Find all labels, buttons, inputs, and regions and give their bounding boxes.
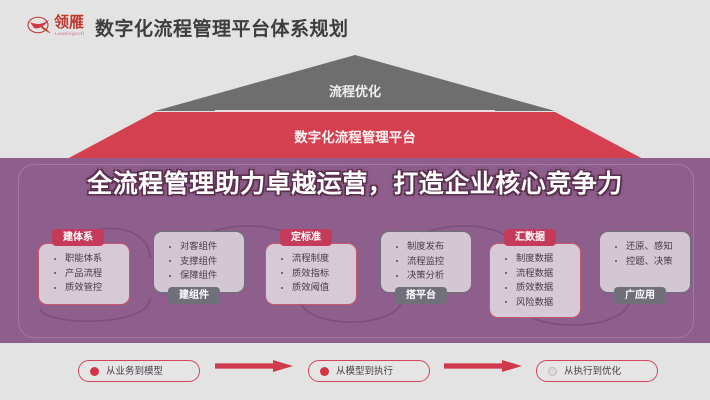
- group-3-items: 流程制度 质效指标 质效阈值: [270, 251, 352, 295]
- list-item: 风险数据: [494, 295, 576, 310]
- group-pill-4[interactable]: 搭平台: [395, 287, 447, 304]
- list-item: 产品流程: [43, 266, 125, 281]
- flow-chip-1[interactable]: 从业务到模型: [78, 360, 200, 382]
- group-6-items: 还原、感知 控题、决策: [604, 239, 686, 268]
- group-pill-6[interactable]: 广应用: [614, 287, 666, 304]
- list-item: 流程制度: [270, 251, 352, 266]
- group-1-items: 职能体系 产品流程 质效管控: [43, 251, 125, 295]
- goose-swoosh-icon: [27, 15, 53, 35]
- list-item: 制度数据: [494, 251, 576, 266]
- flow-chip-3-label: 从执行到优化: [564, 361, 621, 383]
- pyramid-divider: [215, 110, 495, 112]
- group-pill-2[interactable]: 建组件: [168, 287, 220, 304]
- list-item: 质效指标: [270, 266, 352, 281]
- flow-strip: 从业务到模型 从模型到执行 从执行到优化: [0, 352, 710, 386]
- slide-header: 领雁 Leadingsoft 数字化流程管理平台体系规划: [0, 0, 710, 56]
- pyramid-middle-label: 数字化流程管理平台: [65, 126, 645, 146]
- group-card-5[interactable]: 制度数据 流程数据 质效数据 风险数据: [489, 243, 581, 318]
- flow-dot-icon: [548, 367, 557, 376]
- list-item: 职能体系: [43, 251, 125, 266]
- list-item: 质效管控: [43, 280, 125, 295]
- flow-chip-2-label: 从模型到执行: [336, 361, 393, 383]
- list-item: 流程监控: [385, 254, 467, 269]
- list-item: 还原、感知: [604, 239, 686, 254]
- group-card-3[interactable]: 流程制度 质效指标 质效阈值: [265, 243, 357, 305]
- flow-chip-3[interactable]: 从执行到优化: [536, 360, 658, 382]
- logo-chinese-text: 领雁: [54, 14, 84, 31]
- list-item: 决策分析: [385, 268, 467, 283]
- group-card-6[interactable]: 还原、感知 控题、决策: [599, 231, 691, 293]
- list-item: 支撑组件: [158, 254, 240, 269]
- flow-chip-1-label: 从业务到模型: [106, 361, 163, 383]
- list-item: 保障组件: [158, 268, 240, 283]
- flow-dot-icon: [90, 367, 99, 376]
- right-arrow-icon: [444, 360, 522, 372]
- brand-logo: 领雁 Leadingsoft: [27, 14, 95, 44]
- group-pill-3[interactable]: 定标准: [280, 229, 332, 246]
- list-item: 制度发布: [385, 239, 467, 254]
- group-card-1[interactable]: 职能体系 产品流程 质效管控: [38, 243, 130, 305]
- right-arrow-icon: [215, 360, 293, 372]
- slide-canvas: 领雁 Leadingsoft 数字化流程管理平台体系规划 流程优化 数字化流程管…: [0, 0, 710, 400]
- page-title: 数字化流程管理平台体系规划: [95, 14, 349, 41]
- group-card-4[interactable]: 制度发布 流程监控 决策分析: [380, 231, 472, 293]
- group-pill-5[interactable]: 汇数据: [504, 229, 556, 246]
- group-card-2[interactable]: 对客组件 支撑组件 保障组件: [153, 231, 245, 293]
- list-item: 控题、决策: [604, 254, 686, 269]
- group-5-items: 制度数据 流程数据 质效数据 风险数据: [494, 251, 576, 309]
- overlay-headline: 全流程管理助力卓越运营，打造企业核心竞争力: [0, 168, 710, 201]
- group-4-items: 制度发布 流程监控 决策分析: [385, 239, 467, 283]
- list-item: 质效数据: [494, 280, 576, 295]
- group-pill-1[interactable]: 建体系: [52, 229, 104, 246]
- group-2-items: 对客组件 支撑组件 保障组件: [158, 239, 240, 283]
- list-item: 流程数据: [494, 266, 576, 281]
- logo-english-text: Leadingsoft: [55, 31, 85, 36]
- flow-chip-2[interactable]: 从模型到执行: [308, 360, 430, 382]
- list-item: 质效阈值: [270, 280, 352, 295]
- list-item: 对客组件: [158, 239, 240, 254]
- flow-dot-icon: [320, 367, 329, 376]
- pyramid-top-label: 流程优化: [155, 81, 555, 100]
